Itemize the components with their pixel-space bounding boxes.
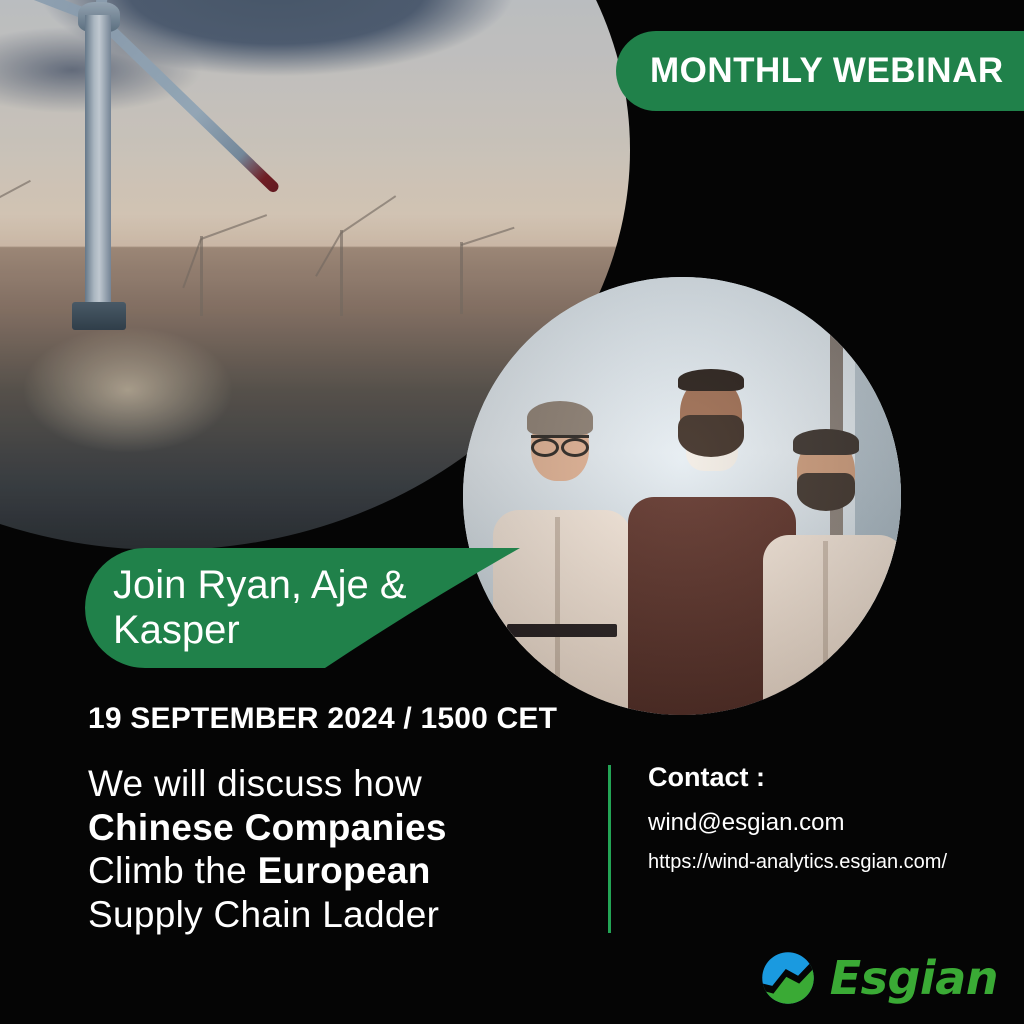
team-photo <box>463 277 901 715</box>
glasses-icon <box>531 435 589 448</box>
headline-line-3: Climb the <box>88 850 258 891</box>
contact-url[interactable]: https://wind-analytics.esgian.com/ <box>648 851 947 874</box>
turbine-blade <box>93 13 280 195</box>
shirt-placket <box>823 541 828 711</box>
event-date: 19 SEPTEMBER 2024 / 1500 CET <box>88 702 557 736</box>
distant-turbine-blade <box>182 239 202 289</box>
speaker-center-beard <box>678 415 744 457</box>
distant-turbine-blade <box>0 180 31 224</box>
vertical-divider <box>608 765 611 933</box>
headline-line-4: Supply Chain Ladder <box>88 894 439 935</box>
headline-line-3-bold: European <box>258 850 431 891</box>
monthly-webinar-label: MONTHLY WEBINAR <box>650 51 1004 91</box>
distant-turbine-blade <box>315 233 342 277</box>
speaker-right-beard <box>797 473 855 511</box>
contact-title: Contact : <box>648 762 947 793</box>
contact-email[interactable]: wind@esgian.com <box>648 809 947 837</box>
monthly-webinar-badge: MONTHLY WEBINAR <box>616 31 1024 111</box>
webinar-poster: MONTHLY WEBINAR Join Ryan, Aje & Kasper … <box>0 0 1024 1024</box>
distant-turbine-blade <box>201 214 267 240</box>
distant-turbine-blade <box>340 195 396 234</box>
distant-turbine-tower <box>200 236 203 316</box>
join-speakers-label: Join Ryan, Aje & Kasper <box>113 563 463 653</box>
esgian-logo: Esgian <box>760 950 998 1006</box>
speaker-right-hair <box>793 429 859 455</box>
speaker-center-hair <box>678 369 744 391</box>
esgian-wordmark: Esgian <box>830 951 998 1005</box>
turbine-foundation <box>72 302 126 330</box>
speaker-left-hair <box>527 401 593 435</box>
speaker-right <box>763 397 901 715</box>
speaker-right-shirt <box>763 535 901 715</box>
distant-turbine-tower <box>340 230 343 316</box>
belt <box>507 624 617 637</box>
page-title: We will discuss how Chinese Companies Cl… <box>88 762 588 937</box>
shirt-placket <box>555 517 560 707</box>
headline-line-2: Chinese Companies <box>88 807 447 848</box>
join-speakers-badge: Join Ryan, Aje & Kasper <box>85 548 520 668</box>
esgian-circle-chart-mark <box>760 950 816 1006</box>
contact-block: Contact : wind@esgian.com https://wind-a… <box>648 762 947 874</box>
turbine-tower <box>85 15 111 315</box>
headline-line-1: We will discuss how <box>88 763 422 804</box>
distant-turbine-blade <box>461 227 515 246</box>
